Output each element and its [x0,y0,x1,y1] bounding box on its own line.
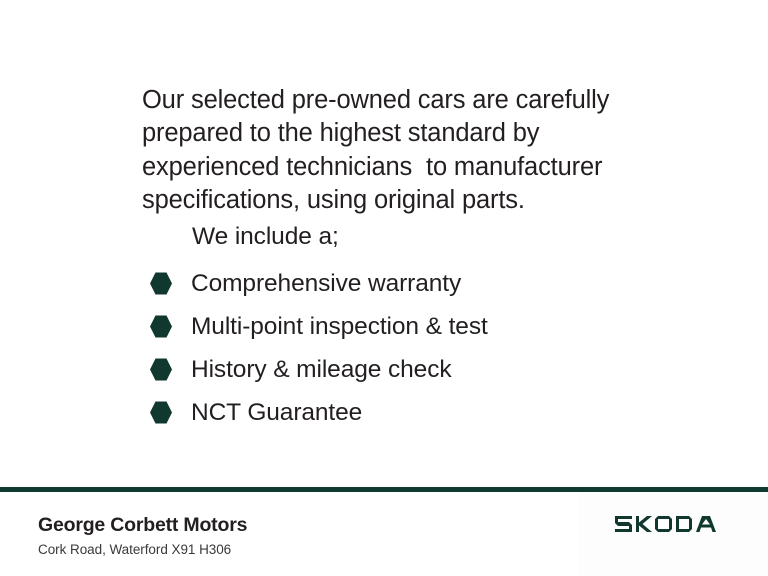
include-label: We include a; [192,220,339,254]
list-item: Comprehensive warranty [150,262,650,305]
list-item: NCT Guarantee [150,391,650,434]
hexagon-bullet-icon [150,401,172,425]
promo-slide: Our selected pre-owned cars are carefull… [0,0,768,576]
inclusions-list: Comprehensive warranty Multi-point inspe… [150,262,650,434]
list-item-label: NCT Guarantee [191,398,362,428]
dealer-name: George Corbett Motors [38,513,247,537]
dealer-address: Cork Road, Waterford X91 H306 [38,541,231,559]
list-item: Multi-point inspection & test [150,305,650,348]
list-item: History & mileage check [150,348,650,391]
list-item-label: History & mileage check [191,355,452,385]
list-item-label: Comprehensive warranty [191,269,461,299]
skoda-wordmark-icon [614,512,732,536]
hexagon-bullet-icon [150,358,172,382]
hexagon-bullet-icon [150,272,172,296]
hexagon-bullet-icon [150,315,172,339]
list-item-label: Multi-point inspection & test [191,312,488,342]
headline-paragraph: Our selected pre-owned cars are carefull… [142,84,662,218]
